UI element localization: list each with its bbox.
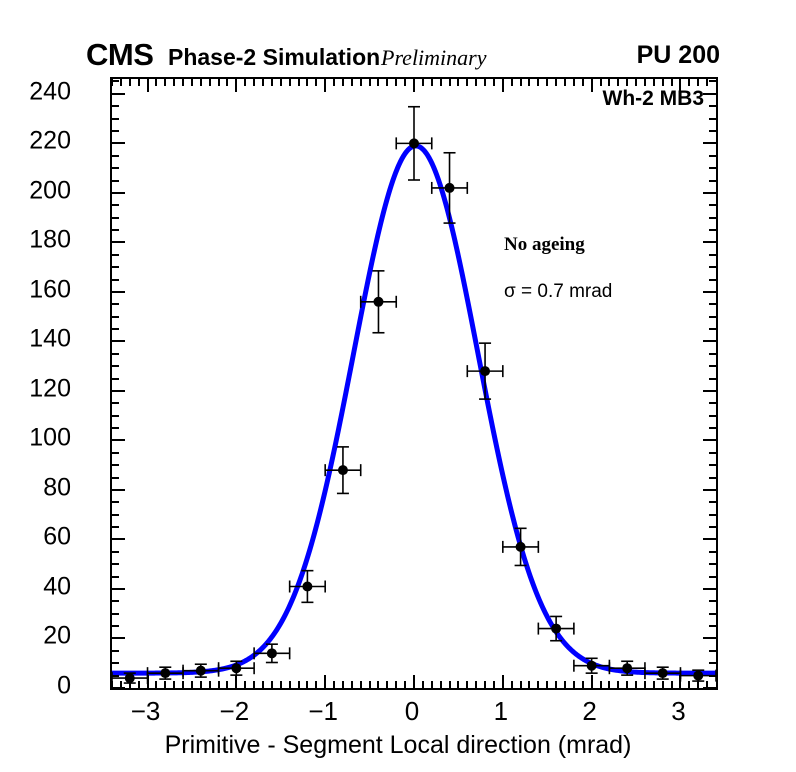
x-axis-tick-label: 3 xyxy=(671,696,685,727)
x-axis-tick xyxy=(360,79,362,86)
x-axis-tick-label: −3 xyxy=(131,696,161,727)
x-axis-tick xyxy=(573,79,575,86)
x-axis-tick xyxy=(155,79,157,86)
y-axis-tick-label: 20 xyxy=(43,622,71,651)
x-axis-tick xyxy=(449,681,451,688)
data-point xyxy=(396,107,432,180)
x-axis-tick xyxy=(449,79,451,86)
y-axis-tick xyxy=(709,650,716,652)
x-axis-tick xyxy=(626,79,628,86)
x-axis-tick xyxy=(182,681,184,688)
y-axis-tick xyxy=(709,180,716,182)
x-axis-tick xyxy=(404,681,406,688)
y-axis-tick xyxy=(709,118,716,120)
x-axis-tick xyxy=(635,681,637,688)
x-axis-tick xyxy=(608,79,610,86)
x-axis-tick xyxy=(537,681,539,688)
x-axis-tick xyxy=(635,79,637,86)
x-axis-tick xyxy=(679,79,681,92)
x-axis-tick xyxy=(475,79,477,86)
x-axis-tick xyxy=(324,79,326,92)
y-axis-tick xyxy=(709,279,716,281)
x-axis-tick xyxy=(218,681,220,688)
y-axis-tick-label: 140 xyxy=(29,325,71,354)
x-axis-tick xyxy=(315,79,317,86)
x-axis-tick xyxy=(502,79,504,92)
x-axis-tick xyxy=(191,79,193,86)
x-axis-tick xyxy=(706,681,708,688)
x-axis-tick xyxy=(209,79,211,86)
y-axis-tick xyxy=(112,353,119,355)
cms-subtitle: Phase-2 Simulation xyxy=(168,42,380,72)
x-axis-tick xyxy=(395,79,397,86)
y-axis-tick xyxy=(703,340,716,342)
y-axis-tick xyxy=(709,130,716,132)
x-axis-tick xyxy=(671,681,673,688)
y-axis-tick xyxy=(703,192,716,194)
y-axis-tick xyxy=(112,514,119,516)
x-axis-tick xyxy=(129,79,131,86)
x-axis-tick xyxy=(200,681,202,688)
y-axis-tick xyxy=(112,427,119,429)
y-axis-tick xyxy=(709,576,716,578)
x-axis-title: Primitive - Segment Local direction (mra… xyxy=(0,731,796,760)
x-axis-tick xyxy=(360,681,362,688)
x-axis-tick xyxy=(280,681,282,688)
x-axis-tick xyxy=(537,79,539,86)
x-axis-tick xyxy=(644,681,646,688)
y-axis-tick xyxy=(709,316,716,318)
plot-frame: Wh-2 MB3 No ageing σ = 0.7 mrad xyxy=(110,77,718,690)
x-axis-tick xyxy=(546,79,548,86)
x-axis-tick xyxy=(511,681,513,688)
y-axis-tick xyxy=(112,600,119,602)
x-axis-tick xyxy=(431,79,433,86)
cms-preliminary-tag: Preliminary xyxy=(381,43,487,73)
x-axis-tick xyxy=(235,79,237,92)
y-axis-tick xyxy=(709,501,716,503)
x-axis-tick xyxy=(520,681,522,688)
x-axis-tick xyxy=(218,79,220,86)
y-axis-tick xyxy=(709,452,716,454)
x-axis-tick xyxy=(147,675,149,688)
x-axis-tick xyxy=(262,79,264,86)
x-axis-tick xyxy=(608,681,610,688)
x-axis-tick-label: −2 xyxy=(220,696,250,727)
y-axis-tick xyxy=(112,662,119,664)
y-axis-tick xyxy=(112,291,125,293)
y-axis-tick xyxy=(709,526,716,528)
x-axis-tick xyxy=(662,79,664,86)
y-axis-tick xyxy=(709,613,716,615)
y-axis-tick xyxy=(709,563,716,565)
y-axis-tick-label: 220 xyxy=(29,127,71,156)
x-axis-tick xyxy=(253,681,255,688)
x-axis-tick xyxy=(457,79,459,86)
x-axis-tick xyxy=(671,79,673,86)
y-axis-tick xyxy=(703,142,716,144)
y-axis-tick-label: 200 xyxy=(29,176,71,205)
y-axis-tick xyxy=(112,551,119,553)
x-axis-tick xyxy=(306,681,308,688)
x-axis-tick xyxy=(253,79,255,86)
x-axis-tick xyxy=(706,79,708,86)
x-axis-tick xyxy=(555,79,557,86)
y-axis-tick xyxy=(112,390,125,392)
x-axis-tick xyxy=(528,681,530,688)
x-axis-tick xyxy=(271,681,273,688)
y-axis-tick xyxy=(112,477,119,479)
x-axis-tick xyxy=(422,79,424,86)
y-axis-tick xyxy=(709,155,716,157)
x-axis-tick xyxy=(697,681,699,688)
x-axis-tick xyxy=(697,79,699,86)
y-axis-tick xyxy=(703,489,716,491)
y-axis-tick xyxy=(112,254,119,256)
x-axis-tick xyxy=(617,681,619,688)
x-axis-tick xyxy=(298,79,300,86)
chamber-label: Wh-2 MB3 xyxy=(603,87,705,111)
plot-area xyxy=(112,79,716,688)
y-axis-tick xyxy=(703,588,716,590)
x-axis-tick xyxy=(404,79,406,86)
x-axis-tick xyxy=(644,79,646,86)
x-axis-tick xyxy=(431,681,433,688)
x-axis-tick xyxy=(440,681,442,688)
x-axis-tick xyxy=(200,79,202,86)
ageing-label: No ageing xyxy=(504,234,585,256)
x-axis-tick xyxy=(582,681,584,688)
y-axis-tick xyxy=(709,229,716,231)
x-axis-tick-label: 1 xyxy=(494,696,508,727)
y-axis-tick xyxy=(112,303,119,305)
y-axis-tick-label: 0 xyxy=(57,672,71,701)
y-axis-tick xyxy=(112,365,119,367)
x-axis-tick xyxy=(564,681,566,688)
y-axis-tick xyxy=(112,675,119,677)
x-axis-tick xyxy=(111,79,113,86)
x-axis-tick xyxy=(324,675,326,688)
y-axis-tick-label: 180 xyxy=(29,226,71,255)
y-axis-tick xyxy=(709,551,716,553)
x-axis-tick xyxy=(466,681,468,688)
y-axis-tick-label: 100 xyxy=(29,424,71,453)
data-point xyxy=(325,447,361,494)
x-axis-tick xyxy=(555,681,557,688)
y-axis-tick xyxy=(709,167,716,169)
x-axis-tick xyxy=(155,681,157,688)
x-axis-tick xyxy=(271,79,273,86)
y-axis-tick xyxy=(112,452,119,454)
y-axis-tick xyxy=(112,167,119,169)
x-axis-tick xyxy=(244,79,246,86)
cms-header: CMS Phase-2 Simulation Preliminary PU 20… xyxy=(0,38,796,72)
y-axis-tick xyxy=(709,105,716,107)
x-axis-tick xyxy=(342,79,344,86)
x-axis-tick xyxy=(120,79,122,86)
x-axis-tick xyxy=(298,681,300,688)
y-axis-tick xyxy=(112,192,125,194)
x-axis-tick xyxy=(386,79,388,86)
y-axis-tick xyxy=(112,501,119,503)
data-point xyxy=(219,661,255,675)
x-axis-tick xyxy=(564,79,566,86)
y-axis-tick xyxy=(709,204,716,206)
x-axis-tick xyxy=(226,681,228,688)
data-point xyxy=(538,616,574,640)
x-axis-tick xyxy=(138,681,140,688)
x-axis-tick xyxy=(280,79,282,86)
y-axis-tick xyxy=(709,365,716,367)
x-axis-tick xyxy=(395,681,397,688)
x-axis-tick xyxy=(493,79,495,86)
y-axis-tick xyxy=(112,538,125,540)
y-axis-tick xyxy=(112,180,119,182)
x-axis-tick xyxy=(484,681,486,688)
x-axis-tick xyxy=(289,79,291,86)
y-axis-tick xyxy=(112,687,125,689)
x-axis-tick xyxy=(591,675,593,688)
x-axis-tick xyxy=(600,79,602,86)
data-point xyxy=(183,664,219,677)
x-axis-tick xyxy=(546,681,548,688)
x-axis-tick xyxy=(502,675,504,688)
y-axis-tick xyxy=(112,378,119,380)
data-point xyxy=(148,667,184,679)
y-axis-tick xyxy=(112,155,119,157)
x-axis-tick xyxy=(688,681,690,688)
y-axis-tick xyxy=(709,514,716,516)
x-axis-tick xyxy=(493,681,495,688)
cms-logo: CMS xyxy=(86,38,153,72)
x-axis-tick xyxy=(377,79,379,86)
y-axis-tick xyxy=(112,217,119,219)
y-axis-tick xyxy=(112,340,125,342)
x-axis-tick xyxy=(386,681,388,688)
y-axis-tick xyxy=(112,576,119,578)
x-axis-tick xyxy=(457,681,459,688)
y-axis-tick xyxy=(112,650,119,652)
x-axis-tick xyxy=(528,79,530,86)
y-axis-tick xyxy=(112,130,119,132)
data-point xyxy=(432,153,468,223)
data-point xyxy=(254,644,290,662)
x-axis-tick xyxy=(679,675,681,688)
y-axis-tick xyxy=(709,600,716,602)
x-axis-tick xyxy=(111,681,113,688)
y-axis-tick xyxy=(112,105,119,107)
x-axis-tick xyxy=(413,675,415,688)
x-axis-tick xyxy=(129,681,131,688)
y-axis-tick xyxy=(709,378,716,380)
data-point xyxy=(574,658,610,673)
x-axis-tick xyxy=(582,79,584,86)
y-axis-tick xyxy=(112,489,125,491)
y-axis-tick xyxy=(112,118,119,120)
y-axis-tick xyxy=(112,241,125,243)
x-axis-tick xyxy=(377,681,379,688)
x-axis-tick xyxy=(209,681,211,688)
x-axis-tick xyxy=(173,681,175,688)
y-axis-tick xyxy=(709,477,716,479)
x-axis-tick xyxy=(306,79,308,86)
y-axis-tick xyxy=(709,80,716,82)
y-axis-tick xyxy=(112,588,125,590)
y-axis-tick-label: 40 xyxy=(43,572,71,601)
y-axis-tick xyxy=(709,675,716,677)
y-axis-tick xyxy=(709,625,716,627)
y-axis-tick xyxy=(709,353,716,355)
y-axis-tick xyxy=(709,662,716,664)
y-axis-tick xyxy=(112,637,125,639)
y-axis-tick-label: 240 xyxy=(29,77,71,106)
y-axis-tick-label: 60 xyxy=(43,523,71,552)
x-axis-tick xyxy=(182,79,184,86)
x-axis-tick xyxy=(164,79,166,86)
data-point xyxy=(361,271,397,333)
x-axis-tick xyxy=(138,79,140,86)
data-point xyxy=(503,528,539,565)
y-axis-tick xyxy=(709,415,716,417)
x-axis-tick-label: 2 xyxy=(582,696,596,727)
x-axis-tick xyxy=(520,79,522,86)
y-axis-tick xyxy=(703,439,716,441)
y-axis-tick xyxy=(709,328,716,330)
pileup-label: PU 200 xyxy=(637,38,720,72)
y-axis-tick xyxy=(112,415,119,417)
y-axis-tick xyxy=(112,526,119,528)
y-axis-tick xyxy=(709,217,716,219)
x-axis-tick xyxy=(591,79,593,92)
data-points-layer xyxy=(112,79,716,688)
x-axis-tick xyxy=(333,681,335,688)
x-axis-tick xyxy=(369,79,371,86)
y-axis-tick-label: 80 xyxy=(43,473,71,502)
y-axis-tick xyxy=(703,637,716,639)
x-axis-tick xyxy=(573,681,575,688)
x-axis-tick xyxy=(662,681,664,688)
y-axis-tick xyxy=(112,439,125,441)
x-axis-tick xyxy=(653,681,655,688)
y-axis-tick xyxy=(112,316,119,318)
x-axis-tick xyxy=(173,79,175,86)
x-axis-tick xyxy=(688,79,690,86)
y-axis-tick xyxy=(703,687,716,689)
y-axis-tick-label: 160 xyxy=(29,275,71,304)
x-axis-tick xyxy=(369,681,371,688)
x-axis-tick xyxy=(617,79,619,86)
x-axis-tick xyxy=(484,79,486,86)
x-axis-tick xyxy=(120,681,122,688)
y-axis-tick xyxy=(709,303,716,305)
y-axis-tick xyxy=(112,464,119,466)
x-axis-tick xyxy=(164,681,166,688)
x-axis-tick xyxy=(475,681,477,688)
x-axis-tick xyxy=(262,681,264,688)
y-axis-tick xyxy=(112,142,125,144)
x-axis-tick xyxy=(511,79,513,86)
y-axis-tick xyxy=(709,464,716,466)
x-axis-tick xyxy=(351,681,353,688)
y-axis-tick xyxy=(112,613,119,615)
data-point xyxy=(609,661,645,675)
y-axis-tick xyxy=(112,93,125,95)
y-axis-tick xyxy=(703,93,716,95)
x-axis-tick xyxy=(653,79,655,86)
resolution-label: σ = 0.7 mrad xyxy=(504,281,612,303)
x-axis-tick xyxy=(226,79,228,86)
x-axis-tick xyxy=(413,79,415,92)
x-axis-tick xyxy=(244,681,246,688)
x-axis-tick xyxy=(333,79,335,86)
y-axis-tick xyxy=(703,538,716,540)
data-point xyxy=(290,571,326,603)
y-axis-tick xyxy=(709,266,716,268)
y-axis-tick xyxy=(703,291,716,293)
y-axis-tick xyxy=(703,241,716,243)
x-axis-tick xyxy=(351,79,353,86)
x-axis-tick-label: 0 xyxy=(405,696,419,727)
y-axis-tick xyxy=(112,402,119,404)
y-axis-tick xyxy=(709,254,716,256)
y-axis-tick xyxy=(709,402,716,404)
data-point xyxy=(467,343,503,399)
y-axis-tick xyxy=(112,80,119,82)
y-axis-tick xyxy=(112,229,119,231)
data-point xyxy=(645,667,681,679)
x-axis-tick xyxy=(235,675,237,688)
x-axis-tick-label: −1 xyxy=(308,696,338,727)
y-axis-tick xyxy=(112,204,119,206)
x-axis-tick xyxy=(440,79,442,86)
x-axis-tick xyxy=(191,681,193,688)
y-axis-tick xyxy=(112,328,119,330)
x-axis-tick xyxy=(626,681,628,688)
x-axis-tick xyxy=(342,681,344,688)
x-axis-tick xyxy=(289,681,291,688)
y-axis-tick xyxy=(112,279,119,281)
x-axis-tick xyxy=(315,681,317,688)
y-axis-tick xyxy=(703,390,716,392)
y-axis-tick xyxy=(112,266,119,268)
y-axis-tick xyxy=(112,563,119,565)
x-axis-tick xyxy=(600,681,602,688)
x-axis-tick xyxy=(147,79,149,92)
y-axis-tick xyxy=(709,427,716,429)
x-axis-tick xyxy=(422,681,424,688)
y-axis-tick-label: 120 xyxy=(29,374,71,403)
x-axis-tick xyxy=(466,79,468,86)
y-axis-tick xyxy=(112,625,119,627)
